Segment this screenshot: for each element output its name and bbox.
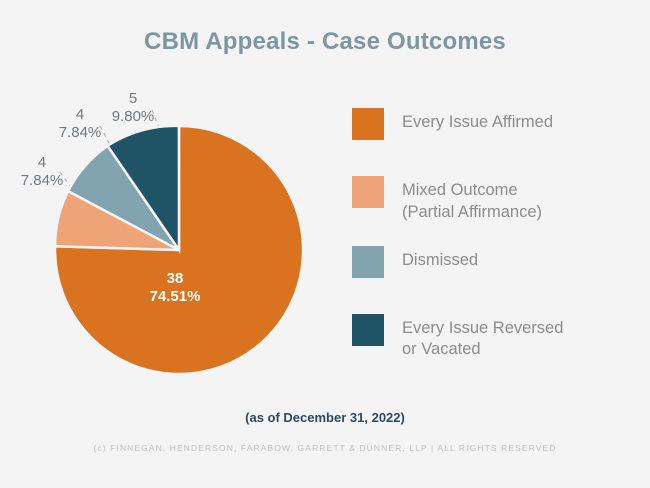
pie-svg xyxy=(0,0,340,400)
as-of-date: (as of December 31, 2022) xyxy=(0,410,650,425)
pie-chart: 38 74.51% 4 7.84% 4 7.84% 5 9.80% xyxy=(0,0,340,400)
legend-item-every-issue-affirmed[interactable]: Every Issue Affirmed xyxy=(352,108,632,154)
pie-label-value: 38 xyxy=(120,270,230,288)
pie-label-value: 5 xyxy=(88,90,178,108)
legend-item-every-issue-reversed[interactable]: Every Issue Reversed or Vacated xyxy=(352,314,632,362)
legend-label-line1: Dismissed xyxy=(402,251,478,269)
pie-label-percent: 9.80% xyxy=(88,108,178,126)
pie-label-mixed-outcome: 4 7.84% xyxy=(0,154,87,191)
legend-label-line1: Every Issue Affirmed xyxy=(402,113,553,131)
pie-label-every-issue-affirmed: 38 74.51% xyxy=(120,270,230,307)
legend-item-dismissed[interactable]: Dismissed xyxy=(352,246,632,292)
pie-label-every-issue-reversed: 5 9.80% xyxy=(88,90,178,127)
legend-swatch-icon xyxy=(352,246,384,278)
legend-item-label: Mixed Outcome (Partial Affirmance) xyxy=(402,176,542,224)
pie-label-percent: 7.84% xyxy=(35,124,125,142)
legend-item-label: Dismissed xyxy=(402,246,478,272)
legend-item-label: Every Issue Reversed or Vacated xyxy=(402,314,563,362)
legend-label-line2: (Partial Affirmance) xyxy=(402,202,542,224)
chart-legend: Every Issue Affirmed Mixed Outcome (Part… xyxy=(352,108,632,383)
legend-item-label: Every Issue Affirmed xyxy=(402,108,553,134)
legend-label-line1: Every Issue Reversed xyxy=(402,319,563,337)
legend-label-line2: or Vacated xyxy=(402,339,563,361)
pie-label-percent: 74.51% xyxy=(120,288,230,306)
pie-label-value: 4 xyxy=(0,154,87,172)
chart-canvas: CBM Appeals - Case Outcomes 38 xyxy=(0,0,650,488)
legend-item-mixed-outcome[interactable]: Mixed Outcome (Partial Affirmance) xyxy=(352,176,632,224)
legend-swatch-icon xyxy=(352,108,384,140)
copyright-notice: (c) FINNEGAN, HENDERSON, FARABOW, GARRET… xyxy=(0,443,650,453)
pie-label-percent: 7.84% xyxy=(0,172,87,190)
pie-slices xyxy=(55,126,303,374)
legend-swatch-icon xyxy=(352,314,384,346)
legend-swatch-icon xyxy=(352,176,384,208)
legend-label-line1: Mixed Outcome xyxy=(402,181,518,199)
